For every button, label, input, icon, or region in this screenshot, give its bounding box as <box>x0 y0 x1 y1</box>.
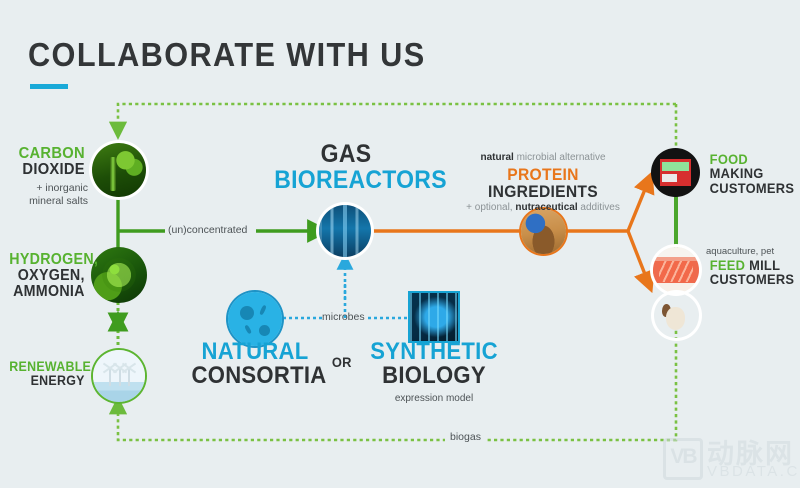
synthetic-biology-label: SYNTHETIC BIOLOGY expression model <box>364 340 504 405</box>
renewable-energy-label: RENEWABLE ENERGY <box>6 360 88 388</box>
carbon-dioxide-label: CARBON DIOXIDE + inorganic mineral salts <box>10 146 88 208</box>
hydrogen-label: HYDROGEN, OXYGEN, AMMONIA <box>6 252 88 299</box>
protein-sub-bold: nutraceutical <box>515 202 577 213</box>
food-making-customers-label: FOOD MAKING CUSTOMERS <box>706 152 798 195</box>
carbon-sub-line1: + inorganic <box>36 182 88 194</box>
dog-pet-icon <box>654 293 699 338</box>
meat-package-icon <box>651 148 700 197</box>
protein-top-bold: natural <box>480 152 513 163</box>
dna-synthetic-biology-icon <box>408 291 460 343</box>
carbon-dioxide-icon <box>92 143 146 197</box>
gas-bioreactor-icon <box>319 205 371 257</box>
microbes-label: microbes <box>322 311 365 324</box>
page-title: COLLABORATE WITH US <box>28 36 426 74</box>
natural-consortia-label: NATURAL CONSORTIA <box>186 340 324 389</box>
protein-ingredients-icon <box>521 209 566 254</box>
hydrogen-cell-icon <box>91 247 147 303</box>
protein-top-rest: microbial alternative <box>514 152 606 163</box>
carbon-sub-line2: mineral salts <box>29 195 88 207</box>
gas-bioreactors-label: GAS BIOREACTORS <box>268 142 424 193</box>
watermark-mark: VB <box>663 438 703 480</box>
watermark-en: VBDATA.CN <box>707 463 800 480</box>
or-label: OR <box>332 355 352 369</box>
protein-sub-post: additives <box>578 202 620 213</box>
salmon-icon <box>653 247 699 293</box>
protein-ingredients-label: natural microbial alternative PROTEIN IN… <box>448 152 638 215</box>
renewable-energy-icon <box>93 350 145 402</box>
title-underline-rule <box>30 84 68 89</box>
feed-mill-customers-label: aquaculture, pet FEED MILL CUSTOMERS <box>706 246 800 286</box>
microbes-connectors <box>283 262 408 318</box>
protein-rest: INGREDIENTS <box>488 182 598 201</box>
concentrated-label: (un)concentrated <box>168 224 247 237</box>
protein-sub-pre: + optional, <box>466 202 515 213</box>
protein-accent: PROTEIN <box>507 165 578 184</box>
biogas-label: biogas <box>445 431 486 444</box>
infographic-canvas: COLLABORATE WITH US <box>0 0 800 488</box>
